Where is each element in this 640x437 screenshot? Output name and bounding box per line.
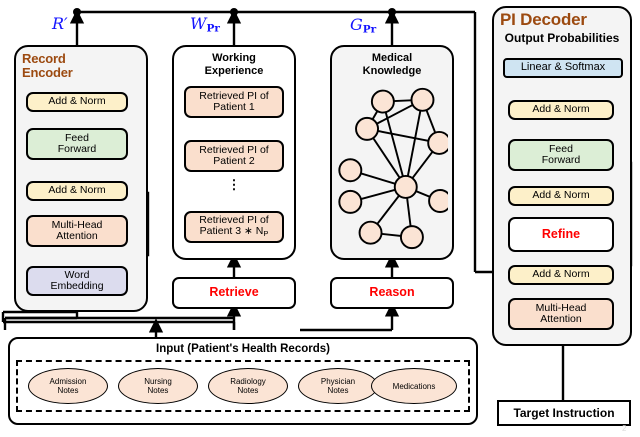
encoder-multi-head-attention[interactable]: Multi-HeadAttention: [26, 215, 128, 247]
decoder-add-norm-top[interactable]: Add & Norm: [508, 100, 614, 120]
input-panel-title: Input (Patient's Health Records): [8, 343, 478, 356]
knowledge-graph-node: [372, 91, 394, 113]
knowledge-graph: [338, 72, 448, 257]
retrieve-action[interactable]: Retrieve: [172, 277, 296, 309]
knowledge-graph-node: [429, 190, 448, 212]
decoder-feed-forward[interactable]: FeedForward: [508, 139, 614, 171]
encoder-feed-forward[interactable]: FeedForward: [26, 128, 128, 160]
decoder-add-norm-bottom[interactable]: Add & Norm: [508, 265, 614, 285]
label-w-pr: WPr: [190, 14, 220, 34]
decoder-refine[interactable]: Refine: [508, 217, 614, 252]
pi-decoder-panel: [492, 6, 632, 346]
reason-action[interactable]: Reason: [330, 277, 454, 309]
encoder-add-norm-bottom[interactable]: Add & Norm: [26, 181, 128, 201]
knowledge-graph-node: [401, 226, 423, 248]
retrieved-pi-patient-n[interactable]: Retrieved PI ofPatient 3 ∗ NP: [184, 211, 284, 243]
retrieved-pi-patient-1[interactable]: Retrieved PI ofPatient 1: [184, 86, 284, 118]
knowledge-graph-node: [395, 176, 417, 198]
decoder-linear-softmax[interactable]: Linear & Softmax: [503, 58, 623, 78]
knowledge-graph-node: [360, 222, 382, 244]
retrieved-pi-patient-2[interactable]: Retrieved PI ofPatient 2: [184, 140, 284, 172]
source-admission-notes[interactable]: AdmissionNotes: [28, 368, 108, 404]
knowledge-graph-node: [356, 118, 378, 140]
source-radiology-notes[interactable]: RadiologyNotes: [208, 368, 288, 404]
record-encoder-title: Record Encoder: [22, 52, 73, 80]
target-instruction[interactable]: Target Instruction: [497, 400, 631, 426]
decoder-add-norm-mid[interactable]: Add & Norm: [508, 186, 614, 206]
knowledge-graph-node: [411, 89, 433, 111]
source-physician-notes[interactable]: PhysicianNotes: [298, 368, 378, 404]
figure-canvas: R′ WPr GPr Record Encoder Add & Norm Fee…: [0, 0, 640, 437]
knowledge-graph-node: [339, 159, 361, 181]
knowledge-graph-node: [339, 191, 361, 213]
output-probabilities-label: Output Probabilities: [492, 31, 632, 45]
working-experience-title: Working Experience: [172, 52, 296, 77]
source-medications[interactable]: Medications: [371, 368, 457, 404]
decoder-multi-head-attention[interactable]: Multi-HeadAttention: [508, 298, 614, 330]
working-experience-ellipsis: ⋮: [172, 182, 296, 188]
pi-decoder-title: PI Decoder: [500, 10, 587, 29]
knowledge-graph-node: [428, 132, 448, 154]
label-g-pr: GPr: [350, 15, 376, 35]
source-nursing-notes[interactable]: NursingNotes: [118, 368, 198, 404]
encoder-add-norm-top[interactable]: Add & Norm: [26, 92, 128, 112]
label-r-prime: R′: [52, 14, 68, 33]
encoder-word-embedding[interactable]: WordEmbedding: [26, 266, 128, 296]
page-artifact: 2: [622, 424, 626, 433]
